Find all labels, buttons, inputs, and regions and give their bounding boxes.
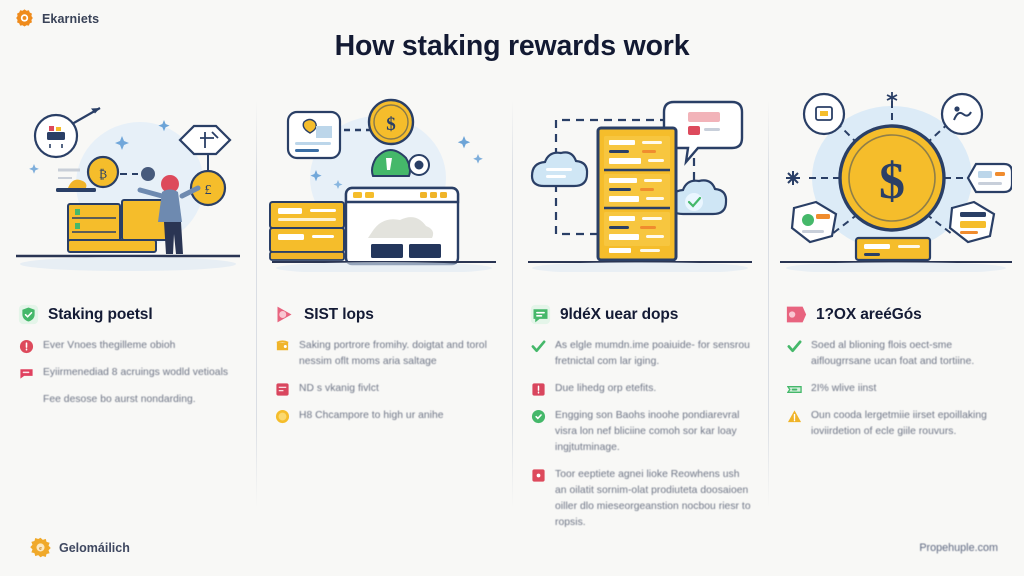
- list-item: As elgle mumdn.ime poaiuide- for sensrou…: [531, 338, 752, 370]
- columns-container: £ ₿: [0, 92, 1024, 522]
- column-4: $: [768, 92, 1024, 542]
- list-item: Engging son Baohs inoohe pondiarevral vi…: [531, 408, 752, 456]
- pink-play-badge-icon: [274, 304, 295, 325]
- green-chat-badge-icon: [530, 304, 551, 325]
- column-1: £ ₿: [0, 92, 256, 542]
- list-item: Toor eeptiete agnei lioke Reowhens ush a…: [531, 467, 752, 531]
- svg-text:£: £: [205, 183, 212, 198]
- list-item-text: Eyiirmenediad 8 acruings wodld vetioals: [43, 365, 228, 381]
- footer-brand-name: Gelomáilich: [59, 541, 130, 555]
- header-brand-name: Ekarniets: [42, 12, 99, 26]
- column-3-heading: 9ldéX uear dops: [530, 304, 752, 325]
- list-item: Ever Vnoes thegilleme obioh: [19, 338, 240, 354]
- staking-setup-illustration: £ ₿: [16, 92, 240, 288]
- server-cloud-illustration: [528, 92, 752, 288]
- list-item: Oun cooda lergetmiie iirset epoillaking …: [787, 408, 1008, 440]
- list-item-text: Saking portrore fromihy. doigtat and tor…: [299, 338, 496, 370]
- column-2-heading-text: SIST lops: [304, 306, 374, 324]
- list-item-text: Oun cooda lergetmiie iirset epoillaking …: [811, 408, 1008, 440]
- footer-brand: e Gelomáilich: [30, 537, 130, 558]
- header-brand: Ekarniets: [14, 8, 99, 29]
- green-circle-icon: [531, 409, 546, 424]
- svg-text:$: $: [879, 153, 905, 210]
- list-item-text: Fee desose bo aurst nondarding.: [43, 392, 196, 408]
- list-item-text: Ever Vnoes thegilleme obioh: [43, 338, 175, 354]
- svg-text:$: $: [386, 114, 396, 135]
- list-item-text: As elgle mumdn.ime poaiuide- for sensrou…: [555, 338, 752, 370]
- list-item: Eyiirmenediad 8 acruings wodld vetioals: [19, 365, 240, 381]
- green-shield-badge-icon: [18, 304, 39, 325]
- gold-coin-icon: [275, 409, 290, 424]
- coin-hub-illustration: $: [784, 92, 1008, 288]
- footer-site-url: Propehuple.com: [919, 542, 998, 554]
- wallet-browser-illustration: $: [272, 92, 496, 288]
- column-3: 9ldéX uear dops As elgle mumdn.ime poaiu…: [512, 92, 768, 542]
- svg-text:e: e: [39, 546, 42, 552]
- red-circle-icon: [19, 339, 34, 354]
- red-square-icon: [531, 382, 546, 397]
- list-item: H8 Chcampore to high ur anihe: [275, 408, 496, 424]
- list-item-text: H8 Chcampore to high ur anihe: [299, 408, 444, 424]
- svg-text:₿: ₿: [99, 167, 107, 181]
- column-2: $: [256, 92, 512, 542]
- list-item-text: Engging son Baohs inoohe pondiarevral vi…: [555, 408, 752, 456]
- pink-label-icon: [19, 366, 34, 381]
- list-item-text: Soed al blioning flois oect-sme aiflougr…: [811, 338, 1008, 370]
- amber-warning-icon: [787, 409, 802, 424]
- list-item-text: Toor eeptiete agnei lioke Reowhens ush a…: [555, 467, 752, 531]
- list-item-text: ND s vkanig fivlct: [299, 381, 379, 397]
- list-item: Due lihedg orp etefits.: [531, 381, 752, 397]
- list-item: Fee desose bo aurst nondarding.: [19, 392, 240, 408]
- list-item-text: 2I% wlive iinst: [811, 381, 876, 397]
- infographic-page: Ekarniets How staking rewards work: [0, 0, 1024, 576]
- list-item-text: Due lihedg orp etefits.: [555, 381, 656, 397]
- column-4-heading: 1?OX areéGós: [786, 304, 1008, 325]
- list-item: 2I% wlive iinst: [787, 381, 1008, 397]
- gold-wallet-icon: [275, 339, 290, 354]
- list-item: Saking portrore fromihy. doigtat and tor…: [275, 338, 496, 370]
- blank-icon: [19, 393, 34, 408]
- column-4-heading-text: 1?OX areéGós: [816, 306, 922, 324]
- pink-banner-badge-icon: [786, 304, 807, 325]
- list-item: Soed al blioning flois oect-sme aiflougr…: [787, 338, 1008, 370]
- orange-sunburst-icon: e: [30, 537, 51, 558]
- column-1-heading: Staking poetsl: [18, 304, 240, 325]
- orange-gear-icon: [14, 8, 35, 29]
- red-square-icon: [531, 468, 546, 483]
- column-1-heading-text: Staking poetsl: [48, 306, 153, 324]
- green-check-icon: [787, 339, 802, 354]
- green-ticket-icon: [787, 382, 802, 397]
- page-title: How staking rewards work: [0, 30, 1024, 63]
- column-2-heading: SIST lops: [274, 304, 496, 325]
- list-item: ND s vkanig fivlct: [275, 381, 496, 397]
- red-square-icon: [275, 382, 290, 397]
- green-check-icon: [531, 339, 546, 354]
- column-3-heading-text: 9ldéX uear dops: [560, 306, 678, 324]
